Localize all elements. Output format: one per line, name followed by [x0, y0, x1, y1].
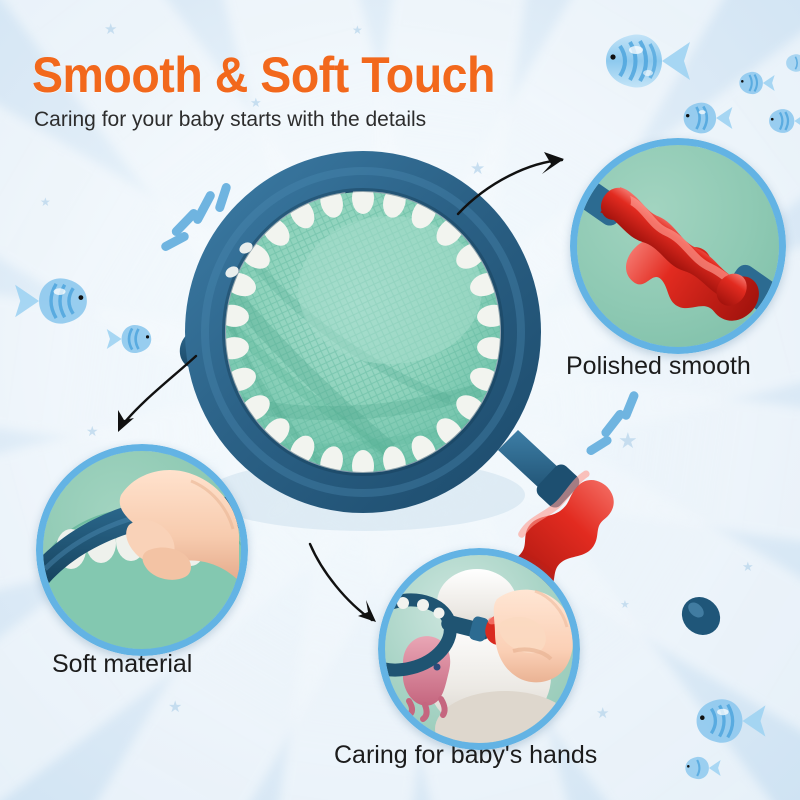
callout-label-polished-smooth: Polished smooth	[566, 352, 751, 381]
pointer-arrow-to-caring-hands	[300, 540, 412, 636]
callout-image-polished-smooth	[577, 145, 779, 347]
callout-soft-material	[36, 444, 248, 656]
callout-label-soft-material: Soft material	[52, 650, 192, 679]
page-title: Smooth & Soft Touch	[32, 46, 495, 104]
fish-icon	[683, 754, 723, 782]
fish-icon	[600, 28, 696, 94]
fish-icon	[692, 694, 771, 748]
fish-icon	[766, 106, 800, 136]
pointer-arrow-to-polished-smooth	[452, 142, 582, 220]
fish-icon	[784, 52, 800, 74]
star-icon: ★	[352, 24, 363, 36]
star-icon: ★	[40, 196, 51, 208]
callout-polished-smooth	[570, 138, 786, 354]
fish-icon	[680, 99, 736, 137]
star-icon: ★	[168, 700, 182, 716]
callout-image-baby-hand	[385, 555, 573, 743]
fish-icon	[10, 272, 92, 330]
page-subtitle: Caring for your baby starts with the det…	[34, 108, 426, 132]
infographic-canvas: ★★★★★★★★★★★★★★★ Smooth & Soft Touch Cari…	[0, 0, 800, 800]
fish-icon	[737, 69, 777, 97]
callout-image-soft-material	[43, 451, 241, 649]
callout-label-caring-for-babys-hands: Caring for baby's hands	[334, 741, 597, 770]
star-icon: ★	[596, 706, 609, 721]
pointer-arrow-to-soft-material	[92, 352, 204, 448]
star-icon: ★	[104, 22, 117, 37]
